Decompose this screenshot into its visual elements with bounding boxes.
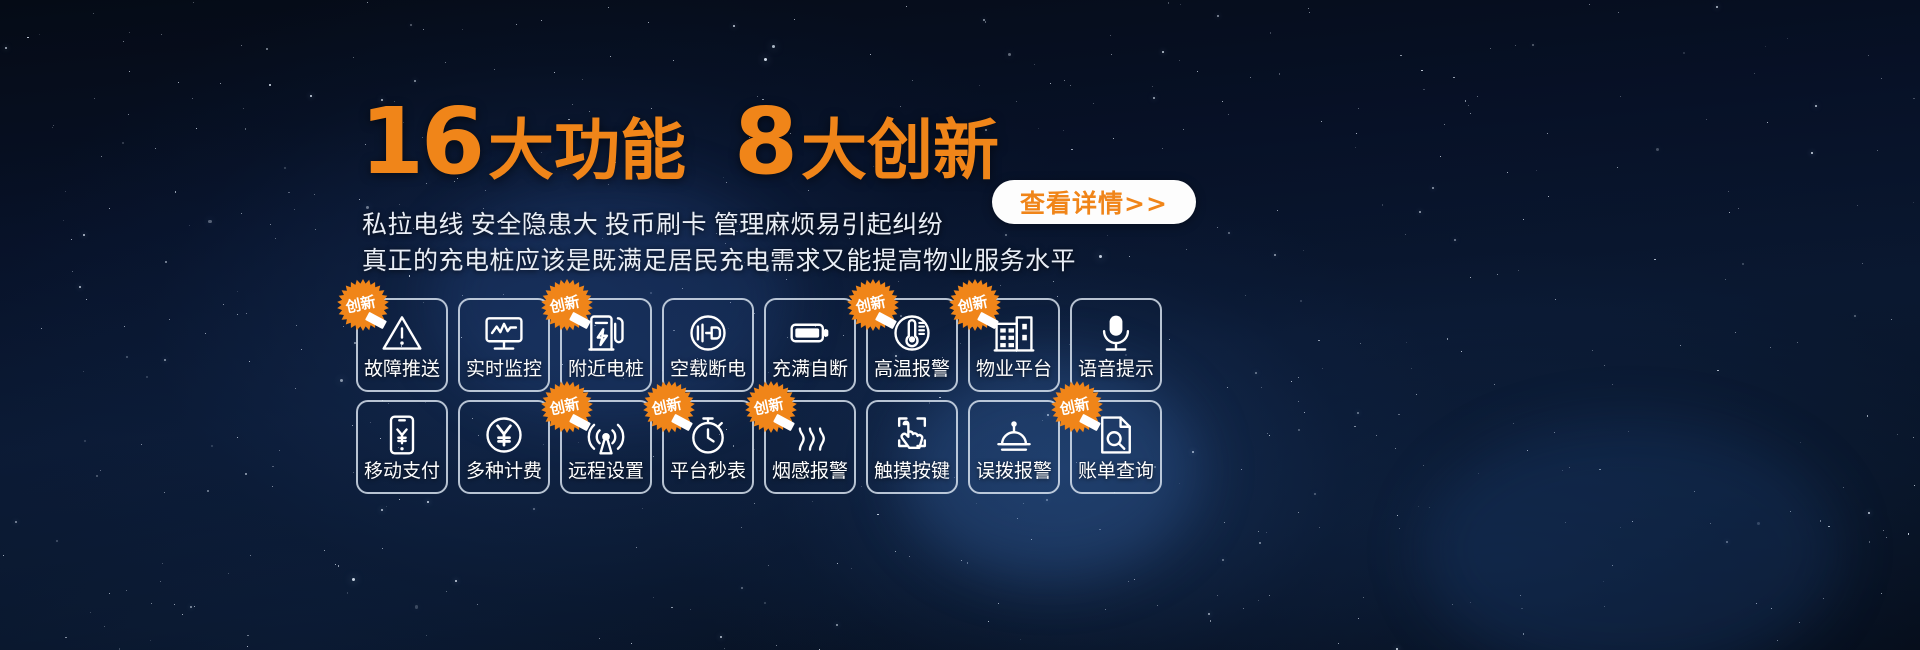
monitor-waveform-icon bbox=[481, 310, 527, 356]
feature-tile-空载断电[interactable]: 空载断电 bbox=[662, 298, 754, 392]
headline-number-1: 16 bbox=[360, 96, 482, 188]
headline-text-1: 大功能 bbox=[488, 118, 686, 184]
feature-tile-label: 实时监控 bbox=[466, 359, 542, 381]
subtitle-line-1: 私拉电线 安全隐患大 投币刷卡 管理麻烦易引起纠纷 bbox=[362, 208, 1076, 244]
feature-row-1: 创新故障推送实时监控创新附近电桩空载断电充满自断创新高温报警创新物业平台语音提示 bbox=[356, 298, 1566, 392]
feature-tile-故障推送[interactable]: 创新故障推送 bbox=[356, 298, 448, 392]
feature-tile-label: 空载断电 bbox=[670, 359, 746, 381]
feature-tile-label: 故障推送 bbox=[364, 359, 440, 381]
feature-tile-附近电桩[interactable]: 创新附近电桩 bbox=[560, 298, 652, 392]
building-icon bbox=[991, 310, 1037, 356]
feature-grid: 创新故障推送实时监控创新附近电桩空载断电充满自断创新高温报警创新物业平台语音提示… bbox=[356, 298, 1566, 502]
charging-pile-icon bbox=[583, 310, 629, 356]
feature-tile-label: 附近电桩 bbox=[568, 359, 644, 381]
headline-text-2: 大创新 bbox=[801, 118, 999, 184]
phone-yuan-icon bbox=[379, 412, 425, 458]
touch-hand-icon bbox=[889, 412, 935, 458]
feature-tile-label: 账单查询 bbox=[1078, 461, 1154, 483]
battery-full-icon bbox=[787, 310, 833, 356]
feature-tile-平台秒表[interactable]: 创新平台秒表 bbox=[662, 400, 754, 494]
feature-tile-label: 移动支付 bbox=[364, 461, 440, 483]
feature-tile-label: 平台秒表 bbox=[670, 461, 746, 483]
stopwatch-icon bbox=[685, 412, 731, 458]
subtitle: 私拉电线 安全隐患大 投币刷卡 管理麻烦易引起纠纷 真正的充电桩应该是既满足居民… bbox=[362, 208, 1076, 280]
feature-tile-label: 烟感报警 bbox=[772, 461, 848, 483]
thermometer-circle-icon bbox=[889, 310, 935, 356]
headline-number-2: 8 bbox=[734, 96, 795, 188]
feature-tile-充满自断[interactable]: 充满自断 bbox=[764, 298, 856, 392]
feature-tile-多种计费[interactable]: 多种计费 bbox=[458, 400, 550, 494]
view-details-button[interactable]: 查看详情>> bbox=[992, 180, 1196, 224]
feature-tile-烟感报警[interactable]: 创新烟感报警 bbox=[764, 400, 856, 494]
feature-tile-label: 语音提示 bbox=[1078, 359, 1154, 381]
smoke-detector-icon bbox=[787, 412, 833, 458]
feature-tile-语音提示[interactable]: 语音提示 bbox=[1070, 298, 1162, 392]
page-title: 16 大功能 8 大创新 bbox=[360, 96, 999, 188]
feature-tile-高温报警[interactable]: 创新高温报警 bbox=[866, 298, 958, 392]
feature-tile-移动支付[interactable]: 移动支付 bbox=[356, 400, 448, 494]
yuan-circle-icon bbox=[481, 412, 527, 458]
feature-tile-label: 物业平台 bbox=[976, 359, 1052, 381]
microphone-icon bbox=[1093, 310, 1139, 356]
feature-tile-label: 触摸按键 bbox=[874, 461, 950, 483]
feature-tile-label: 充满自断 bbox=[772, 359, 848, 381]
plug-circle-icon bbox=[685, 310, 731, 356]
feature-tile-物业平台[interactable]: 创新物业平台 bbox=[968, 298, 1060, 392]
feature-tile-远程设置[interactable]: 创新远程设置 bbox=[560, 400, 652, 494]
feature-tile-实时监控[interactable]: 实时监控 bbox=[458, 298, 550, 392]
alarm-bell-icon bbox=[991, 412, 1037, 458]
feature-row-2: 移动支付多种计费创新远程设置创新平台秒表创新烟感报警触摸按键误拨报警创新账单查询 bbox=[356, 400, 1566, 494]
feature-tile-label: 高温报警 bbox=[874, 359, 950, 381]
antenna-signal-icon bbox=[583, 412, 629, 458]
warning-triangle-icon bbox=[379, 310, 425, 356]
feature-tile-label: 多种计费 bbox=[466, 461, 542, 483]
promo-banner: 16 大功能 8 大创新 私拉电线 安全隐患大 投币刷卡 管理麻烦易引起纠纷 真… bbox=[0, 0, 1920, 650]
feature-tile-触摸按键[interactable]: 触摸按键 bbox=[866, 400, 958, 494]
feature-tile-label: 远程设置 bbox=[568, 461, 644, 483]
feature-tile-label: 误拨报警 bbox=[976, 461, 1052, 483]
document-search-icon bbox=[1093, 412, 1139, 458]
feature-tile-账单查询[interactable]: 创新账单查询 bbox=[1070, 400, 1162, 494]
feature-tile-误拨报警[interactable]: 误拨报警 bbox=[968, 400, 1060, 494]
subtitle-line-2: 真正的充电桩应该是既满足居民充电需求又能提高物业服务水平 bbox=[362, 244, 1076, 280]
